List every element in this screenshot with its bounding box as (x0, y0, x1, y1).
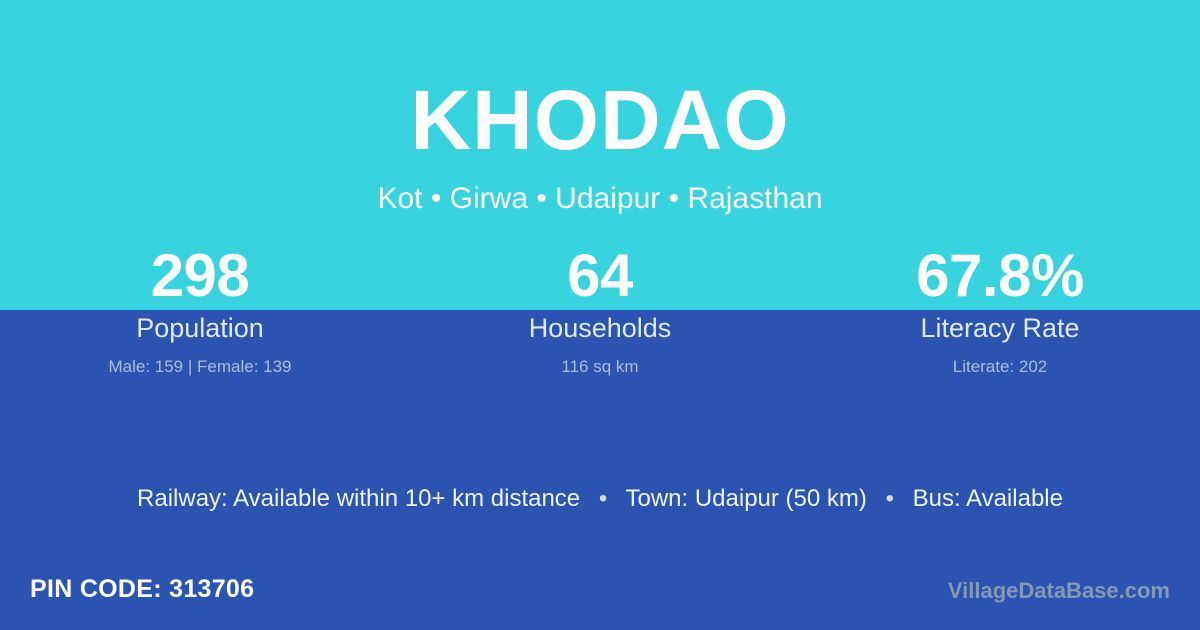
stat-label: Population (0, 309, 400, 346)
stat-sublabel: 116 sq km (400, 346, 800, 378)
stat-sublabel: Male: 159 | Female: 139 (0, 346, 400, 378)
stat-value: 64 (400, 242, 800, 309)
infra-bus: Bus: Available (913, 485, 1063, 512)
stat-literacy-rate: 67.8% Literacy Rate Literate: 202 (800, 242, 1200, 378)
infra-separator: • (587, 485, 619, 512)
stat-value: 298 (0, 242, 400, 309)
card-footer: PIN CODE: 313706 VillageDataBase.com (0, 570, 1200, 630)
stat-label: Literacy Rate (800, 309, 1200, 346)
stat-sublabel: Literate: 202 (800, 346, 1200, 378)
stat-value: 67.8% (800, 242, 1200, 309)
card-header: KHODAO Kot • Girwa • Udaipur • Rajasthan (0, 0, 1200, 214)
pin-code: PIN CODE: 313706 (30, 575, 254, 604)
stat-label: Households (400, 309, 800, 346)
stat-population: 298 Population Male: 159 | Female: 139 (0, 242, 400, 378)
stat-households: 64 Households 116 sq km (400, 242, 800, 378)
page-title: KHODAO (0, 0, 1200, 162)
breadcrumb: Kot • Girwa • Udaipur • Rajasthan (0, 162, 1200, 214)
infra-town: Town: Udaipur (50 km) (625, 485, 866, 512)
infra-railway: Railway: Available within 10+ km distanc… (137, 485, 580, 512)
site-branding: VillageDataBase.com (948, 578, 1170, 604)
infrastructure-row: Railway: Available within 10+ km distanc… (0, 482, 1200, 516)
village-info-card: KHODAO Kot • Girwa • Udaipur • Rajasthan… (0, 0, 1200, 630)
stats-row: 298 Population Male: 159 | Female: 139 6… (0, 242, 1200, 378)
infra-separator: • (874, 485, 906, 512)
